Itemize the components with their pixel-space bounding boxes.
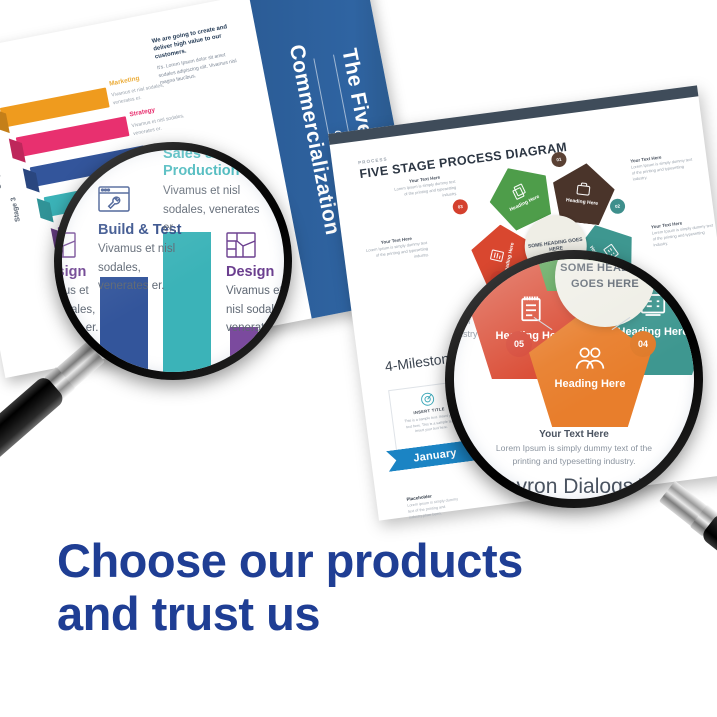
lens-badge-05: 05 xyxy=(506,331,532,357)
stage-label-3: Stage 3 xyxy=(10,197,22,223)
stage-label-2: Stage 2 xyxy=(0,163,3,189)
notepad-icon xyxy=(516,294,546,324)
poster-canvas: Stage 1 Marketing Vivamus et nisl sodale… xyxy=(0,0,717,717)
mosaic-icon xyxy=(62,232,76,258)
lens-body-design-left: Vivamus et nisl sodales, venerates er. xyxy=(62,282,106,338)
briefcase-icon xyxy=(575,180,593,198)
callout-1-body: Lorem Ipsum is simply dummy text of the … xyxy=(392,179,458,205)
mosaic-icon xyxy=(226,232,256,258)
people-icon xyxy=(574,344,606,372)
petal-02-label: Heading Here xyxy=(566,197,599,207)
magnifier-right-lens: Here text of industry Heading Here Headi… xyxy=(454,259,694,499)
magnifier-right-handle[interactable] xyxy=(659,481,717,606)
lens-petal-bottom-label: Heading Here xyxy=(555,378,626,390)
notepad-icon xyxy=(487,246,506,265)
lens-edge-body-1: text of xyxy=(454,315,471,329)
lens-badge-04: 04 xyxy=(630,331,656,357)
target-icon xyxy=(419,390,437,408)
lens-edge-body-2: industry xyxy=(454,328,478,342)
lens-callout-heading: Your Text Here xyxy=(454,429,694,440)
badge-02: 02 xyxy=(609,198,626,215)
lens-body-design-right: Vivamus et nisl sodales, venerates er. xyxy=(226,282,284,338)
lens-callout-body: Lorem Ipsum is simply dummy text of the … xyxy=(484,442,664,468)
lens-heading-design-left: Design xyxy=(62,264,86,281)
magnifier-left-lens: Build & Test Vivamus et nisl sodales, ve… xyxy=(62,150,284,372)
lens-banner-text: es Chevron Dialogs Timeline Te xyxy=(454,475,694,499)
magnifier-left-grip[interactable] xyxy=(0,374,66,471)
headline: Choose our products and trust us xyxy=(57,535,617,640)
callout-3-body: Lorem Ipsum is simply dummy text of the … xyxy=(363,240,429,266)
headline-line-2: and trust us xyxy=(57,588,617,641)
wrench-window-icon xyxy=(98,186,130,212)
lens-body-build-test: Vivamus et nisl sodales, venerates er. xyxy=(98,240,194,296)
lens-heading-sales-production: Sales & Production xyxy=(163,150,259,179)
lens-heading-design-right: Design xyxy=(226,264,274,281)
intro-text-block: We are going to create and deliver high … xyxy=(151,22,245,88)
timeline-ribbon-label: January xyxy=(413,446,458,464)
lens-body-sales-production: Vivamus et nisl sodales, venerates er. xyxy=(163,182,263,238)
lens-hub-label: SOME HEADINGGOES HERE xyxy=(560,261,650,293)
headline-line-1: Choose our products xyxy=(57,535,617,588)
badge-03: 03 xyxy=(452,198,469,215)
lens-edge-heading: Here xyxy=(454,303,469,314)
